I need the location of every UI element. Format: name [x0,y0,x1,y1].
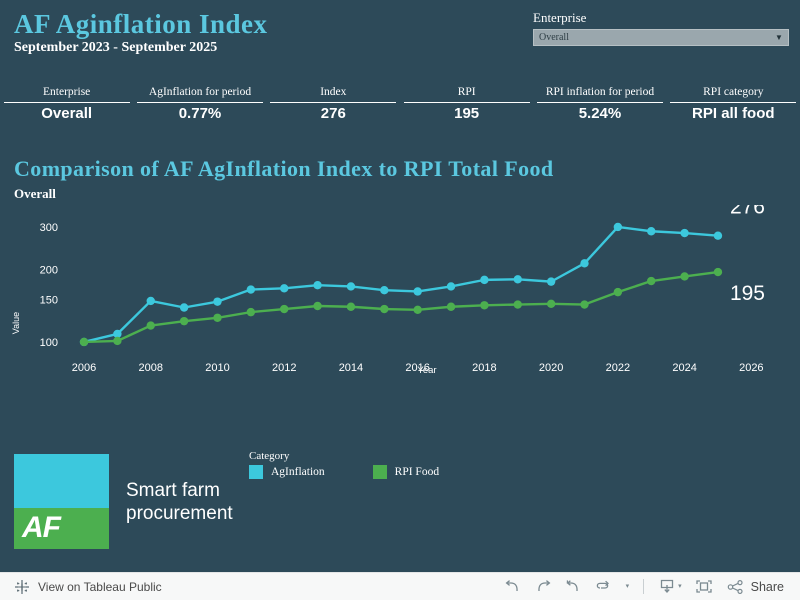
enterprise-filter: Enterprise Overall ▼ [533,10,789,46]
kpi-aginflation-period-label: AgInflation for period [149,82,251,99]
data-point[interactable] [647,277,655,285]
kpi-rpi-inflation-period-value: 5.24% [579,105,622,122]
data-point[interactable] [614,288,622,296]
undo-button[interactable] [498,574,528,600]
legend-item-aginflation[interactable]: AgInflation [249,465,325,479]
data-point[interactable] [280,305,288,313]
data-point[interactable] [247,308,255,316]
af-logo-text: AF [22,511,60,544]
af-logo-mark: AF [14,454,109,549]
x-tick-label: 2022 [606,362,630,374]
kpi-divider [270,102,396,103]
data-point[interactable] [447,282,455,290]
enterprise-filter-label: Enterprise [533,10,789,26]
legend-items: AgInflation RPI Food [249,465,509,479]
y-tick-label: 200 [40,264,58,276]
kpi-rpi-label: RPI [458,82,476,99]
kpi-enterprise-value: Overall [41,105,92,122]
kpi-rpi-category-label: RPI category [703,82,763,99]
data-point[interactable] [547,300,555,308]
legend-item-rpi-food[interactable]: RPI Food [373,465,439,479]
y-axis: 100150200300 [40,222,58,349]
data-point[interactable] [614,223,622,231]
data-point[interactable] [280,284,288,292]
legend-title: Category [249,450,509,463]
dashboard: AF Aginflation Index September 2023 - Se… [0,0,800,572]
fullscreen-icon [694,578,714,595]
end-label-rpi: 195 [730,282,765,305]
kpi-rpi: RPI 195 [400,82,533,140]
kpi-index-label: Index [320,82,346,99]
kpi-divider [137,102,263,103]
kpi-enterprise-label: Enterprise [43,82,90,99]
data-point[interactable] [347,282,355,290]
data-point[interactable] [680,229,688,237]
y-axis-title: Value [11,312,21,334]
kpi-rpi-inflation-period: RPI inflation for period 5.24% [533,82,666,140]
x-tick-label: 2010 [205,362,229,374]
data-point[interactable] [180,303,188,311]
data-point[interactable] [213,297,221,305]
chart-series [80,223,722,346]
kpi-rpi-value: 195 [454,105,479,122]
legend-swatch-icon [373,465,387,479]
refresh-button[interactable] [588,574,618,600]
toolbar-actions: ▾ ▾ [498,574,800,600]
kpi-divider [4,102,130,103]
download-icon [658,578,676,595]
data-point[interactable] [480,301,488,309]
kpi-divider [670,102,796,103]
chevron-down-icon: ▾ [678,583,682,590]
chart-section: Comparison of AF AgInflation Index to RP… [0,150,800,450]
x-axis-title: Year [417,365,436,376]
y-tick-label: 150 [40,295,58,307]
toolbar-divider [643,579,644,594]
data-point[interactable] [514,275,522,283]
legend-label-aginflation: AgInflation [271,466,325,478]
kpi-rpi-category-value: RPI all food [692,105,775,122]
line-chart[interactable]: 100150200300 200620082010201220142016201… [0,205,800,450]
share-icon [726,579,746,595]
x-tick-label: 2024 [672,362,696,374]
refresh-icon [594,579,612,595]
x-tick-label: 2014 [339,362,363,374]
end-label-aginflation: 276 [730,205,765,219]
data-point[interactable] [647,227,655,235]
data-point[interactable] [380,286,388,294]
data-point[interactable] [347,303,355,311]
x-tick-label: 2018 [472,362,496,374]
data-point[interactable] [413,306,421,314]
x-tick-label: 2020 [539,362,563,374]
x-tick-label: 2026 [739,362,763,374]
kpi-aginflation-period-value: 0.77% [179,105,222,122]
view-on-tableau-public-button[interactable]: View on Tableau Public [0,579,162,595]
data-point[interactable] [313,281,321,289]
data-point[interactable] [714,232,722,240]
undo-icon [504,579,522,595]
y-tick-label: 300 [40,222,58,234]
data-point[interactable] [147,321,155,329]
pause-updates-dropdown[interactable]: ▾ [618,574,636,600]
kpi-rpi-category: RPI category RPI all food [667,82,800,140]
af-logo: AF Smart farm procurement [14,454,233,549]
chart-title: Comparison of AF AgInflation Index to RP… [14,156,554,182]
series-line [84,227,718,342]
data-point[interactable] [313,302,321,310]
data-point[interactable] [80,338,88,346]
page-title: AF Aginflation Index [14,8,268,40]
kpi-divider [404,102,530,103]
data-point[interactable] [447,303,455,311]
data-point[interactable] [714,268,722,276]
chevron-down-icon: ▼ [770,34,788,42]
kpi-row: Enterprise Overall AgInflation for perio… [0,82,800,140]
data-point[interactable] [213,314,221,322]
redo-icon [534,579,552,595]
data-point[interactable] [580,300,588,308]
x-tick-label: 2006 [72,362,96,374]
legend-label-rpi-food: RPI Food [395,466,439,478]
legend-swatch-icon [249,465,263,479]
chart-subtitle: Overall [14,186,56,202]
kpi-index: Index 276 [267,82,400,140]
revert-button[interactable] [558,574,588,600]
fullscreen-button[interactable] [688,574,720,600]
data-point[interactable] [413,287,421,295]
data-point[interactable] [547,277,555,285]
kpi-divider [537,102,663,103]
data-point[interactable] [480,276,488,284]
data-point[interactable] [247,285,255,293]
y-tick-label: 100 [40,337,58,349]
data-point[interactable] [113,337,121,345]
dashboard-header: AF Aginflation Index September 2023 - Se… [0,0,800,72]
af-logo-tagline-line2: procurement [126,502,233,525]
title-block: AF Aginflation Index September 2023 - Se… [14,8,268,56]
view-on-tableau-public-label: View on Tableau Public [38,580,162,594]
enterprise-filter-value: Overall [534,32,770,43]
af-logo-tagline: Smart farm procurement [126,479,233,525]
bottom-toolbar: View on Tableau Public [0,572,800,600]
af-logo-top-band [14,454,109,508]
download-button[interactable]: ▾ [652,574,688,600]
revert-icon [564,579,582,595]
share-label: Share [751,580,784,594]
data-point[interactable] [180,317,188,325]
line-chart-svg[interactable]: 100150200300 200620082010201220142016201… [0,205,800,450]
chevron-down-icon: ▾ [626,583,630,590]
chart-legend: Category AgInflation RPI Food [249,450,509,479]
x-tick-label: 2008 [139,362,163,374]
af-logo-tagline-line1: Smart farm [126,479,233,502]
data-point[interactable] [380,305,388,313]
kpi-enterprise: Enterprise Overall [0,82,133,140]
page-subtitle: September 2023 - September 2025 [14,40,268,56]
kpi-rpi-inflation-period-label: RPI inflation for period [546,82,654,99]
share-button[interactable]: Share [720,574,790,600]
data-point[interactable] [580,259,588,267]
redo-button[interactable] [528,574,558,600]
kpi-aginflation-period: AgInflation for period 0.77% [133,82,266,140]
enterprise-filter-dropdown[interactable]: Overall ▼ [533,29,789,46]
data-point[interactable] [514,300,522,308]
data-point[interactable] [680,272,688,280]
x-tick-label: 2012 [272,362,296,374]
kpi-index-value: 276 [321,105,346,122]
tableau-flower-icon [14,579,30,595]
data-point[interactable] [147,297,155,305]
